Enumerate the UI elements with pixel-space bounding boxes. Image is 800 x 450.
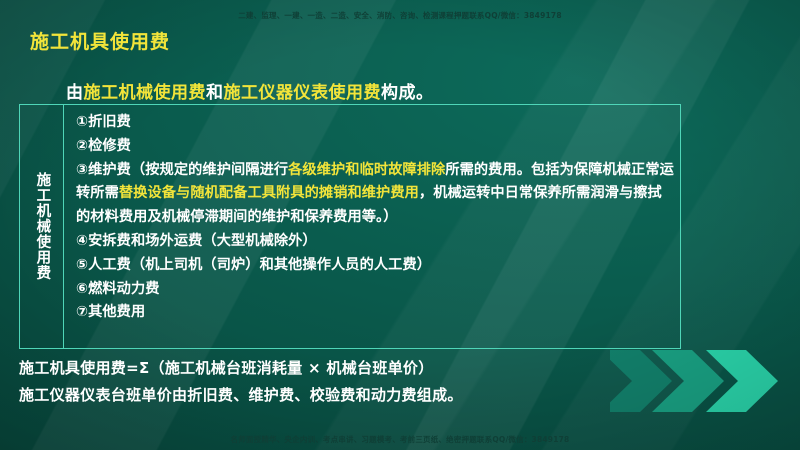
subtitle-line: 由施工机械使用费和施工仪器仪表使用费构成。: [66, 78, 434, 103]
seg-text: ③维护费（按规定的维护间隔进行: [76, 162, 288, 178]
list-item: ②检修费: [76, 135, 674, 159]
subtitle-part2: 和: [206, 83, 224, 103]
subtitle-part3: 构成。: [381, 83, 434, 103]
box-left-label: 施工机械使用费: [20, 105, 64, 348]
seg-highlight: 替换设备与随机配备工具附具的摊销和维护费用: [119, 185, 419, 201]
bottom-promo-banner: 名师面授精华、央企内训、考点串讲、习题模考、考前三页纸、绝密押题联系QQ/微信：…: [0, 434, 800, 445]
formula-line-1: 施工机具使用费=Σ（施工机械台班消耗量 × 机械台班单价）: [19, 355, 681, 382]
list-item-maintenance: ③维护费（按规定的维护间隔进行各级维护和临时故障排除所需的费用。包括为保障机械正…: [76, 159, 674, 230]
top-promo-banner: 二建、监理、一建、一造、二造、安全、消防、咨询、检测课程押题联系QQ/微信：38…: [0, 10, 800, 21]
subtitle-part1: 由: [66, 83, 84, 103]
page-title: 施工机具使用费: [30, 27, 170, 54]
formula-line-2: 施工仪器仪表台班单价由折旧费、维护费、校验费和动力费组成。: [19, 382, 681, 409]
list-item: ①折旧费: [76, 111, 674, 135]
slide: 二建、监理、一建、一造、二造、安全、消防、咨询、检测课程押题联系QQ/微信：38…: [0, 0, 800, 450]
content-box: 施工机械使用费 ①折旧费 ②检修费 ③维护费（按规定的维护间隔进行各级维护和临时…: [19, 104, 681, 349]
subtitle-highlight-1: 施工机械使用费: [84, 83, 207, 103]
list-item: ⑤人工费（机上司机（司炉）和其他操作人员的人工费）: [76, 254, 674, 278]
subtitle-highlight-2: 施工仪器仪表使用费: [224, 83, 382, 103]
list-item: ⑥燃料动力费: [76, 278, 674, 302]
formula-section: 施工机具使用费=Σ（施工机械台班消耗量 × 机械台班单价） 施工仪器仪表台班单价…: [19, 355, 681, 409]
list-item: ④安拆费和场外运费（大型机械除外）: [76, 230, 674, 254]
cost-item-list: ①折旧费 ②检修费 ③维护费（按规定的维护间隔进行各级维护和临时故障排除所需的费…: [64, 105, 680, 348]
seg-highlight: 各级维护和临时故障排除: [288, 162, 445, 178]
box-left-label-text: 施工机械使用费: [33, 172, 51, 281]
list-item: ⑦其他费用: [76, 301, 674, 325]
